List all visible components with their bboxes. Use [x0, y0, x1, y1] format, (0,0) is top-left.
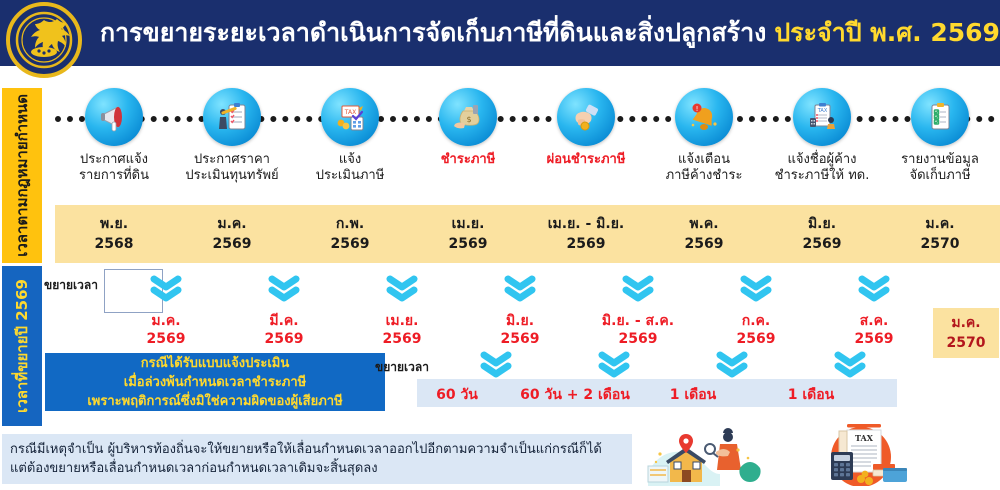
checklist-icon	[911, 88, 969, 146]
timeline-step-8-label: รายงานข้อมูล จัดเก็บภาษี	[881, 152, 999, 184]
sidebar-row-legal-time-label: เวลาตามกฎหมายกำหนด	[10, 94, 34, 257]
svg-text:TAX: TAX	[855, 433, 874, 443]
legal-month-2: ม.ค.2569	[173, 205, 291, 263]
page-title: การขยายระยะเวลาดำเนินการจัดเก็บภาษีที่ดิ…	[100, 0, 990, 66]
page-title-main: การขยายระยะเวลาดำเนินการจัดเก็บภาษีที่ดิ…	[100, 13, 766, 53]
extended-month-6: ก.ค.2569	[697, 312, 815, 348]
legal-month-1: พ.ย.2568	[55, 205, 173, 263]
clipboard-person-icon	[203, 88, 261, 146]
timeline-step-4-label: ชำระภาษี	[409, 152, 527, 168]
bell-alert-icon: !	[675, 88, 733, 146]
double-chevron-down-icon-4	[461, 274, 579, 302]
timeline-step-1-label: ประกาศแจ้ง รายการที่ดิน	[55, 152, 173, 184]
timeline-step-1[interactable]: ประกาศแจ้ง รายการที่ดิน	[55, 88, 173, 184]
double-chevron-down-icon-6	[697, 274, 815, 302]
legal-month-6: พ.ค.2569	[645, 205, 763, 263]
house-inspector-illustration	[640, 424, 770, 490]
process-timeline: ประกาศแจ้ง รายการที่ดิน ประกาศราคา ปร	[55, 88, 1000, 198]
timeline-step-7-label: แจ้งชื่อผู้ค้าง ชำระภาษีให้ ทด.	[763, 152, 881, 184]
tax-document-calculator-illustration: TAX	[795, 424, 935, 490]
extended-month-4: มิ.ย.2569	[461, 312, 579, 348]
timeline-step-4[interactable]: $ ชำระภาษี	[409, 88, 527, 168]
footer-note-line-1: กรณีมีเหตุจำเป็น ผู้บริหารท้องถิ่นจะให้ข…	[10, 440, 624, 459]
sidebar-row-extended-time: เวลาที่ขยายปี 2569	[2, 266, 42, 426]
extended-month-3: เม.ย.2569	[343, 312, 461, 348]
svg-text:!: !	[696, 105, 699, 113]
legal-month-3: ก.พ.2569	[291, 205, 409, 263]
legal-month-5: เม.ย. - มิ.ย.2569	[527, 205, 645, 263]
timeline-step-5[interactable]: ผ่อนชำระภาษี	[527, 88, 645, 168]
timeline-step-3-label: แจ้ง ประเมินภาษี	[291, 152, 409, 184]
extended-month-2: มี.ค.2569	[225, 312, 343, 348]
double-chevron-down-icon-3	[343, 274, 461, 302]
megaphone-icon	[85, 88, 143, 146]
timeline-step-3[interactable]: TAX แจ้ง ประเมินภาษี	[291, 88, 409, 184]
double-chevron-down-icon-5	[579, 274, 697, 302]
extension-row: ขยายเวลา ม.ค.2569 มี.ค.2569 เม.ย.2569 มิ…	[42, 266, 1000, 426]
timeline-step-6[interactable]: ! แจ้งเตือน ภาษีค้างชำระ	[645, 88, 763, 184]
double-chevron-down-icon-9	[555, 350, 673, 378]
svg-text:$: $	[466, 115, 471, 124]
garuda-seal-icon	[6, 2, 82, 78]
assessment-notice-info-box: กรณีได้รับแบบแจ้งประเมิน เมื่อล่วงพ้นกำห…	[45, 353, 385, 411]
timeline-step-2[interactable]: ประกาศราคา ประเมินทุนทรัพย์	[173, 88, 291, 184]
extended-month-1: ม.ค.2569	[107, 312, 225, 348]
footer-note-line-2: แต่ต้องขยายหรือเลื่อนกำหนดเวลาก่อนกำหนดเ…	[10, 459, 624, 478]
footer-note: กรณีมีเหตุจำเป็น ผู้บริหารท้องถิ่นจะให้ข…	[2, 434, 632, 484]
final-report-month-box: ม.ค. 2570	[933, 308, 999, 358]
timeline-step-6-label: แจ้งเตือน ภาษีค้างชำระ	[645, 152, 763, 184]
extend-time-tag-2: ขยายเวลา	[375, 358, 429, 377]
legal-month-4: เม.ย.2569	[409, 205, 527, 263]
page-title-year: ประจำปี พ.ศ. 2569	[774, 13, 1000, 53]
double-chevron-down-icon-2	[225, 274, 343, 302]
extend-time-tag-1: ขยายเวลา	[44, 276, 98, 295]
info-box-line-2: เมื่อล่วงพ้นกำหนดเวลาชำระภาษี	[124, 373, 307, 392]
legal-month-8: ม.ค.2570	[881, 205, 999, 263]
sidebar-row-extended-time-label: เวลาที่ขยายปี 2569	[10, 279, 34, 413]
double-chevron-down-icon-1	[107, 274, 225, 302]
tax-list-icon: TAX	[793, 88, 851, 146]
info-box-line-1: กรณีได้รับแบบแจ้งประเมิน	[141, 354, 289, 373]
svg-text:TAX: TAX	[817, 108, 828, 114]
timeline-step-7[interactable]: TAX แจ้งชื่อผู้ค้าง ชำระภาษีให้ ทด.	[763, 88, 881, 184]
header-banner: การขยายระยะเวลาดำเนินการจัดเก็บภาษีที่ดิ…	[0, 0, 1000, 66]
legal-schedule-band: พ.ย.2568 ม.ค.2569 ก.พ.2569 เม.ย.2569 เม.…	[55, 205, 1000, 263]
extended-month-5: มิ.ย. - ส.ค.2569	[579, 312, 697, 348]
tax-form-icon: TAX	[321, 88, 379, 146]
legal-month-7: มิ.ย.2569	[763, 205, 881, 263]
sidebar-row-legal-time: เวลาตามกฎหมายกำหนด	[2, 88, 42, 263]
timeline-step-8[interactable]: รายงานข้อมูล จัดเก็บภาษี	[881, 88, 999, 184]
duration-1: 60 วัน	[392, 384, 522, 406]
timeline-step-2-label: ประกาศราคา ประเมินทุนทรัพย์	[173, 152, 291, 184]
duration-3: 1 เดือน	[628, 384, 758, 406]
info-box-line-3: เพราะพฤติการณ์ซึ่งมิใช่ความผิดของผู้เสีย…	[87, 392, 342, 411]
money-bag-icon: $	[439, 88, 497, 146]
svg-text:TAX: TAX	[344, 109, 356, 116]
double-chevron-down-icon-11	[791, 350, 909, 378]
extended-month-7: ส.ค.2569	[815, 312, 933, 348]
double-chevron-down-icon-10	[673, 350, 791, 378]
timeline-step-5-label: ผ่อนชำระภาษี	[527, 152, 645, 168]
duration-2: 60 วัน + 2 เดือน	[510, 384, 640, 406]
infographic-page: การขยายระยะเวลาดำเนินการจัดเก็บภาษีที่ดิ…	[0, 0, 1000, 486]
double-chevron-down-icon-8	[437, 350, 555, 378]
duration-4: 1 เดือน	[746, 384, 876, 406]
hand-coin-icon	[557, 88, 615, 146]
double-chevron-down-icon-7	[815, 274, 933, 302]
